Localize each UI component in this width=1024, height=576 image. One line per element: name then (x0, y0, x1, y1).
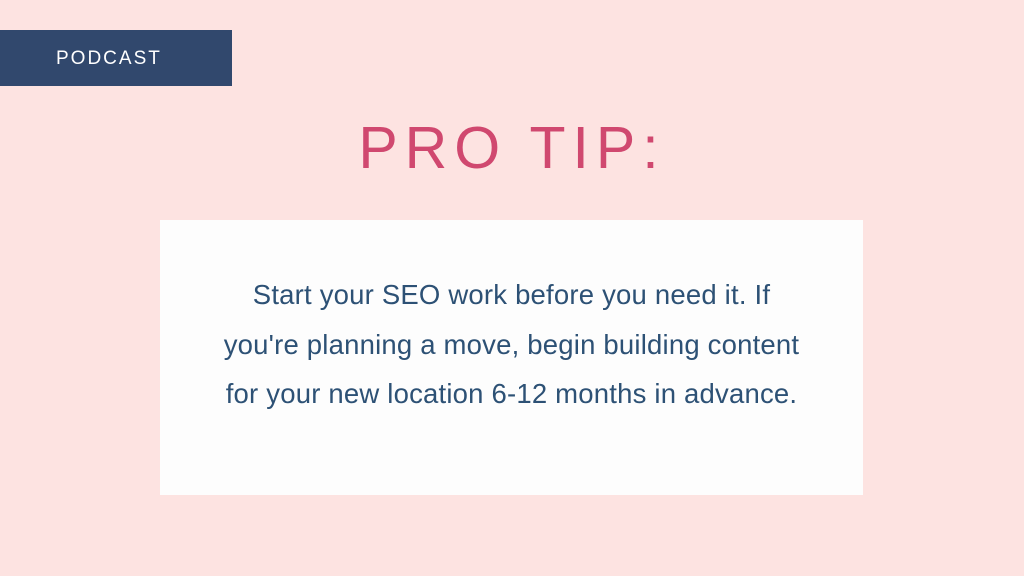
quote-text-block: Start your SEO work before you need it. … (198, 270, 825, 419)
podcast-badge: PODCAST (0, 30, 232, 86)
quote-card: Start your SEO work before you need it. … (160, 220, 863, 495)
quote-line: for your new location 6-12 months in adv… (198, 369, 825, 419)
page-title: PRO TIP: (0, 118, 1024, 180)
slide-canvas: PODCAST PRO TIP: Start your SEO work bef… (0, 0, 1024, 576)
quote-line: Start your SEO work before you need it. … (198, 270, 825, 320)
podcast-badge-label: PODCAST (56, 49, 162, 68)
quote-line: you're planning a move, begin building c… (198, 320, 825, 370)
